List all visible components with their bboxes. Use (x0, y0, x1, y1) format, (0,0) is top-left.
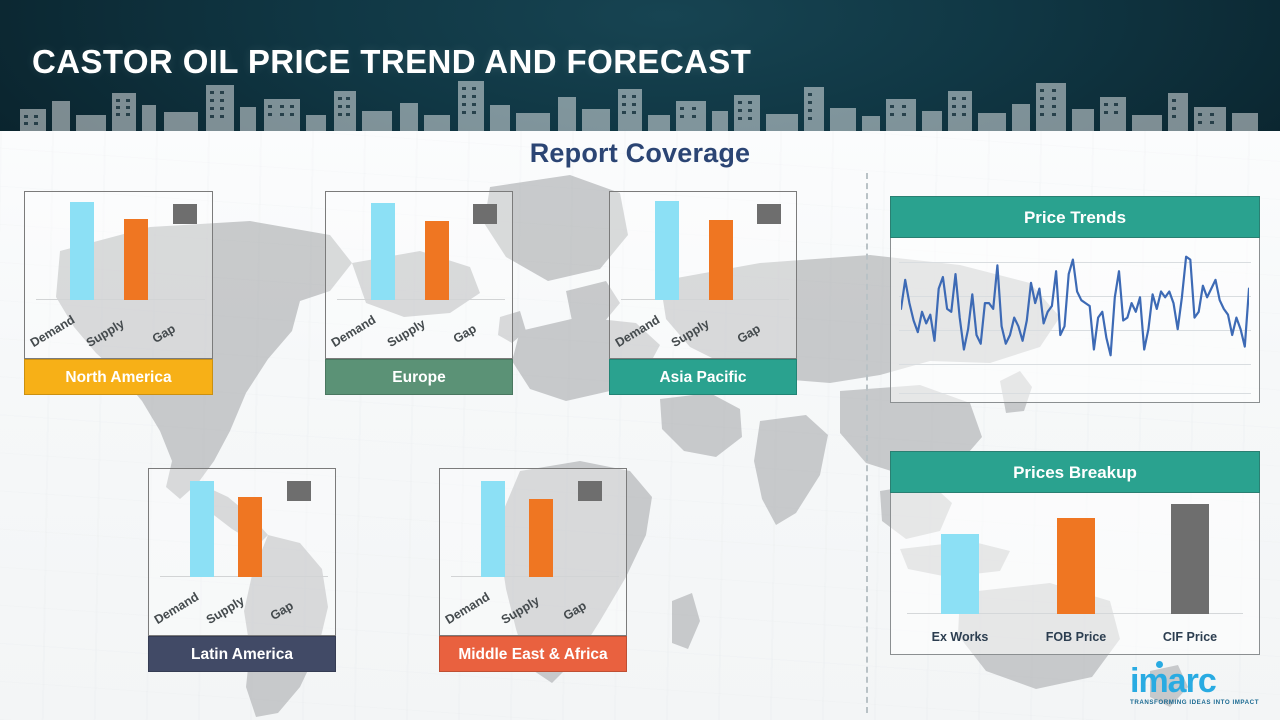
page-title: CASTOR OIL PRICE TREND AND FORECAST (32, 43, 751, 81)
bar-cif-price (1171, 504, 1209, 614)
region-card-middle-east-africa[interactable]: Demand Supply Gap Middle East & Africa (439, 468, 627, 636)
chart-baseline (337, 299, 504, 300)
axis-label-ex-works: Ex Works (920, 630, 1000, 644)
bar-supply (238, 497, 262, 577)
axis-label-demand: Demand (443, 590, 492, 627)
region-chart-north-america: Demand Supply Gap (24, 191, 213, 359)
axis-label-cif-price: CIF Price (1150, 630, 1230, 644)
logo-tagline: TRANSFORMING IDEAS INTO IMPACT (1130, 699, 1262, 706)
panel-prices-breakup[interactable]: Prices Breakup Ex Works FOB Price CIF Pr… (890, 451, 1260, 655)
bar-demand (481, 481, 505, 577)
price-trends-chart (890, 238, 1260, 403)
panel-title-prices-breakup: Prices Breakup (890, 451, 1260, 493)
axis-label-demand: Demand (152, 590, 201, 627)
bar-fob-price (1057, 518, 1095, 614)
axis-label-fob-price: FOB Price (1036, 630, 1116, 644)
bar-gap (757, 204, 781, 224)
content-area: Report Coverage Demand Supply Gap North … (0, 131, 1280, 720)
bar-gap (173, 204, 197, 224)
axis-label-supply: Supply (499, 594, 542, 627)
region-label-europe: Europe (325, 359, 513, 395)
region-label-asia-pacific: Asia Pacific (609, 359, 797, 395)
axis-label-gap: Gap (735, 321, 763, 346)
bar-supply (124, 219, 148, 300)
region-chart-asia-pacific: Demand Supply Gap (609, 191, 797, 359)
bar-gap (578, 481, 602, 501)
region-chart-middle-east-africa: Demand Supply Gap (439, 468, 627, 636)
bar-supply (709, 220, 733, 300)
axis-label-demand: Demand (329, 313, 378, 350)
bar-demand (655, 201, 679, 300)
axis-label-demand: Demand (613, 313, 662, 350)
chart-baseline (36, 299, 204, 300)
bar-supply (425, 221, 449, 300)
bar-gap (473, 204, 497, 224)
axis-label-supply: Supply (385, 317, 428, 350)
vertical-divider (866, 173, 868, 713)
panel-title-price-trends: Price Trends (890, 196, 1260, 238)
axis-label-gap: Gap (451, 321, 479, 346)
region-label-north-america: North America (24, 359, 213, 395)
axis-label-demand: Demand (28, 313, 77, 350)
imarc-logo[interactable]: imarc TRANSFORMING IDEAS INTO IMPACT (1130, 664, 1262, 714)
price-trend-line (901, 248, 1249, 393)
chart-baseline (621, 299, 788, 300)
logo-wordmark: imarc (1130, 664, 1262, 698)
region-label-latin-america: Latin America (148, 636, 336, 672)
region-card-latin-america[interactable]: Demand Supply Gap Latin America (148, 468, 336, 636)
region-label-middle-east-africa: Middle East & Africa (439, 636, 627, 672)
bar-ex-works (941, 534, 979, 614)
axis-label-gap: Gap (561, 598, 589, 623)
region-card-europe[interactable]: Demand Supply Gap Europe (325, 191, 513, 359)
axis-label-supply: Supply (84, 317, 127, 350)
bar-gap (287, 481, 311, 501)
region-chart-latin-america: Demand Supply Gap (148, 468, 336, 636)
axis-label-gap: Gap (268, 598, 296, 623)
panel-price-trends[interactable]: Price Trends (890, 196, 1260, 403)
bar-supply (529, 499, 553, 577)
region-card-asia-pacific[interactable]: Demand Supply Gap Asia Pacific (609, 191, 797, 359)
page-header: CASTOR OIL PRICE TREND AND FORECAST (0, 0, 1280, 131)
axis-label-supply: Supply (204, 594, 247, 627)
bar-demand (190, 481, 214, 577)
axis-label-gap: Gap (150, 321, 178, 346)
region-chart-europe: Demand Supply Gap (325, 191, 513, 359)
bar-demand (371, 203, 395, 300)
region-card-north-america[interactable]: Demand Supply Gap North America (24, 191, 213, 359)
axis-label-supply: Supply (669, 317, 712, 350)
prices-breakup-chart: Ex Works FOB Price CIF Price (890, 493, 1260, 655)
bar-demand (70, 202, 94, 300)
section-title: Report Coverage (0, 138, 1280, 169)
gridline (899, 393, 1251, 394)
logo-dot-icon (1156, 661, 1163, 668)
